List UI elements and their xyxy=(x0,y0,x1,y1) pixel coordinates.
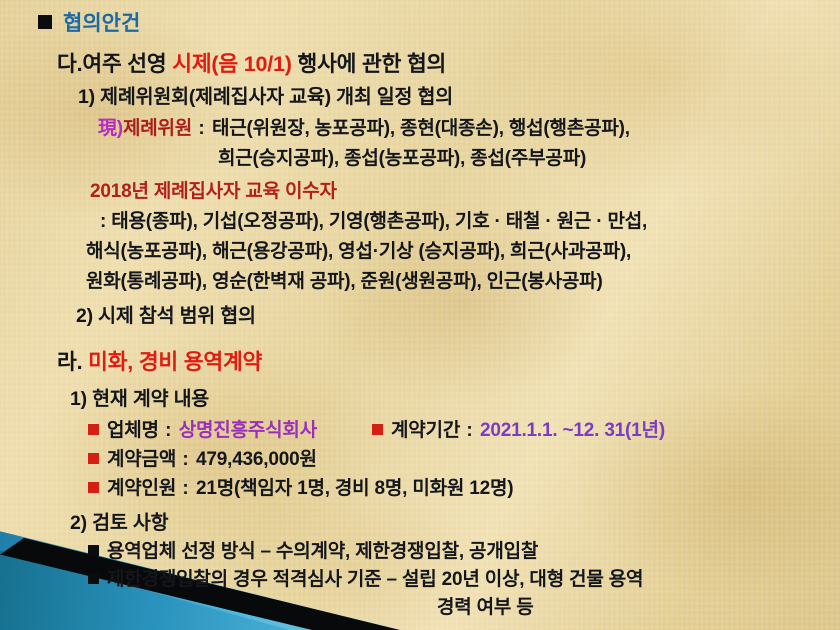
contract-headcount-value: 21명(책임자 1명, 경비 8명, 미화원 12명) xyxy=(196,478,513,499)
item-ra-1: 1) 현재 계약 내용 xyxy=(70,390,209,410)
item-da-2-text: 시제 참석 범위 협의 xyxy=(98,305,256,327)
trained-2018-heading: 2018년 제례집사자 교육 이수자 xyxy=(90,182,337,201)
contract-company-row: 업체명 : 상명진흥주식회사 xyxy=(88,421,317,440)
review-qualification-continuation: 경력 여부 등 xyxy=(437,598,534,617)
contract-period-value: 2021.1.1. ~12. 31(1년) xyxy=(480,420,665,441)
presentation-slide: 협의안건 다.여주 선영 시제(음 10/1) 행사에 관한 협의 1) 제례위… xyxy=(0,0,840,630)
current-committee-han-label: 現) xyxy=(98,118,123,139)
item-da-1-text: 제례위원회(제례집사자 교육) 개최 일정 협의 xyxy=(100,86,453,108)
contract-company-label: 업체명 xyxy=(107,420,159,441)
item-da-2: 2) 시제 참석 범위 협의 xyxy=(76,307,256,327)
section-da-heading-part2: 행사에 관한 협의 xyxy=(292,52,446,76)
black-square-bullet-icon xyxy=(88,573,99,584)
contract-amount-value: 479,436,000원 xyxy=(196,449,317,470)
red-square-bullet-icon xyxy=(88,482,99,493)
item-da-1: 1) 제례위원회(제례집사자 교육) 개최 일정 협의 xyxy=(78,88,453,108)
current-committee-members-line-2: 희근(승지공파), 종섭(농포공파), 종섭(주부공파) xyxy=(218,148,586,169)
contract-amount-label: 계약금액 xyxy=(107,449,176,470)
item-ra-2-text: 검토 사항 xyxy=(92,512,168,534)
review-qualification-text: 제한경쟁입찰의 경우 적격심사 기준 – 설립 20년 이상, 대형 건물 용역 xyxy=(107,569,643,590)
contract-period-colon: : xyxy=(460,420,480,441)
slide-title: 협의안건 xyxy=(38,13,140,34)
review-selection-method-row: 용역업체 선정 방식 – 수의계약, 제한경쟁입찰, 공개입찰 xyxy=(88,542,538,561)
red-square-bullet-icon xyxy=(88,453,99,464)
red-square-bullet-icon xyxy=(88,424,99,435)
trained-2018-line-2: 해식(농포공파), 해근(용강공파), 영섭·기상 (승지공파), 희근(사과공… xyxy=(86,242,631,261)
black-square-bullet-icon xyxy=(88,545,99,556)
current-committee-line-1: 現)제례위원 : 태근(위원장, 농포공파), 종현(대종손), 행섭(행촌공파… xyxy=(98,119,630,138)
contract-headcount-row: 계약인원 : 21명(책임자 1명, 경비 8명, 미화원 12명) xyxy=(88,479,513,498)
current-committee-kor-label: 제례위원 xyxy=(123,118,192,139)
contract-amount-row: 계약금액 : 479,436,000원 xyxy=(88,450,317,469)
section-da-marker: 다. xyxy=(57,52,82,76)
current-committee-members-line-1: 태근(위원장, 농포공파), 종현(대종손), 행섭(행촌공파), xyxy=(212,118,630,139)
contract-period-label: 계약기간 xyxy=(391,420,460,441)
red-square-bullet-icon xyxy=(372,424,383,435)
item-ra-1-marker: 1) xyxy=(70,388,87,410)
section-da-heading: 다.여주 선영 시제(음 10/1) 행사에 관한 협의 xyxy=(57,54,446,76)
review-selection-method-text: 용역업체 선정 방식 – 수의계약, 제한경쟁입찰, 공개입찰 xyxy=(107,541,538,562)
item-ra-2-marker: 2) xyxy=(70,512,87,534)
contract-amount-colon: : xyxy=(176,449,196,470)
review-qualification-row: 제한경쟁입찰의 경우 적격심사 기준 – 설립 20년 이상, 대형 건물 용역 xyxy=(88,570,643,589)
current-committee-colon: : xyxy=(192,118,212,139)
contract-period-row: 계약기간 : 2021.1.1. ~12. 31(1년) xyxy=(372,421,665,440)
item-ra-2: 2) 검토 사항 xyxy=(70,514,168,534)
section-da-heading-accent: 시제(음 10/1) xyxy=(172,52,291,76)
slide-title-text: 협의안건 xyxy=(63,12,140,35)
slide-content: 협의안건 다.여주 선영 시제(음 10/1) 행사에 관한 협의 1) 제례위… xyxy=(0,0,840,630)
item-da-1-marker: 1) xyxy=(78,86,95,108)
trained-2018-line-3: 원화(통례공파), 영순(한벽재 공파), 준원(생원공파), 인근(봉사공파) xyxy=(86,272,603,291)
section-da-heading-part1: 여주 선영 xyxy=(82,52,172,76)
contract-headcount-colon: : xyxy=(176,478,196,499)
contract-company-colon: : xyxy=(159,420,179,441)
section-ra-heading: 라. 미화, 경비 용역계약 xyxy=(57,352,262,374)
contract-company-value: 상명진흥주식회사 xyxy=(179,420,317,441)
current-committee-line-2: 희근(승지공파), 종섭(농포공파), 종섭(주부공파) xyxy=(218,149,586,168)
item-da-2-marker: 2) xyxy=(76,305,93,327)
contract-headcount-label: 계약인원 xyxy=(107,478,176,499)
black-square-bullet-icon xyxy=(38,15,52,29)
section-ra-heading-accent: 미화, 경비 용역계약 xyxy=(88,350,262,374)
trained-2018-line-1: : 태용(종파), 기섭(오정공파), 기영(행촌공파), 기호 · 태철 · … xyxy=(100,212,647,231)
item-ra-1-text: 현재 계약 내용 xyxy=(92,388,209,410)
section-ra-marker: 라. xyxy=(57,350,82,374)
